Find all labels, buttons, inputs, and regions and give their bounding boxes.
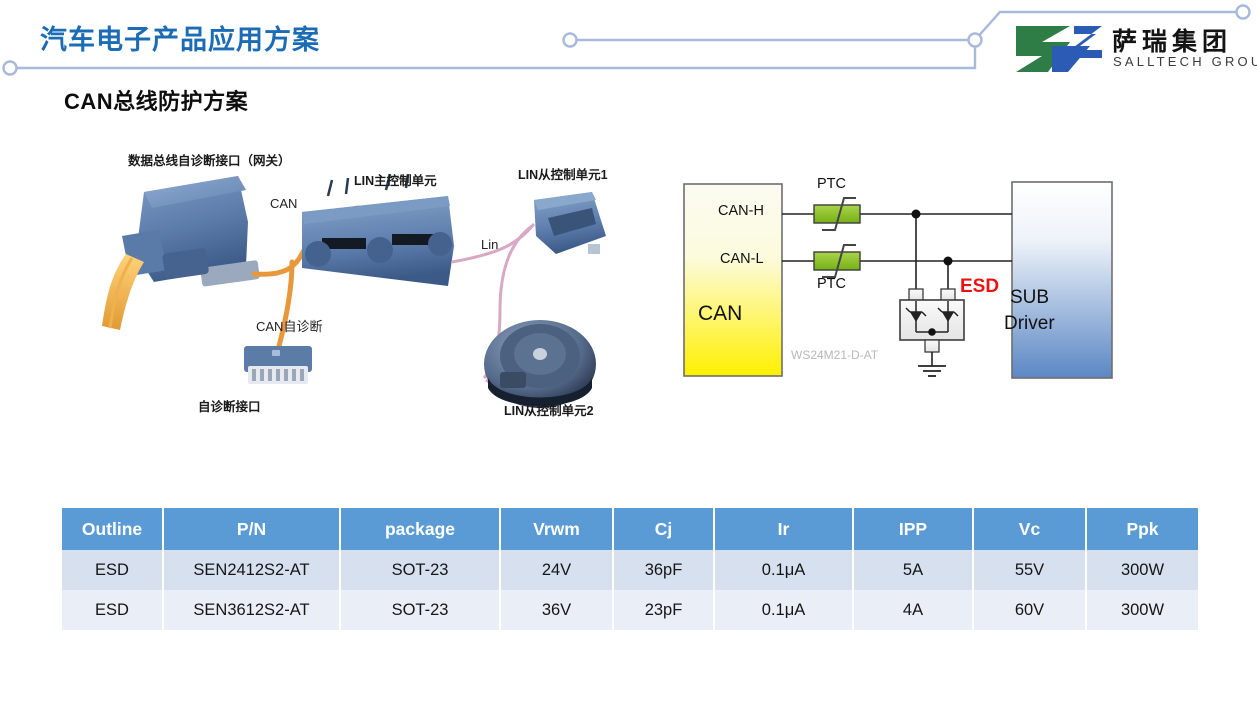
cell-ppk: 300W — [1086, 550, 1198, 590]
node-dot-esd-common — [928, 328, 936, 336]
node-dot-can-h — [912, 210, 921, 219]
cell-vc: 60V — [973, 590, 1086, 630]
illustration-label-obd: 自诊断接口 — [198, 396, 261, 415]
esd-device-package — [900, 289, 964, 376]
cell-cj: 23pF — [613, 590, 714, 630]
ptc-top-symbol — [814, 198, 860, 230]
table-header-row: Outline P/N package Vrwm Cj Ir IPP Vc Pp… — [62, 508, 1198, 550]
logo-blue-wedge — [1052, 46, 1090, 72]
table-header-outline: Outline — [62, 508, 163, 550]
brand-name-cn: 萨瑞集团 — [1112, 22, 1232, 58]
sub-driver-block — [1012, 182, 1112, 378]
brand-logo: 萨瑞集团 SALLTECH GROUP — [1012, 22, 1244, 78]
cell-ipp: 4A — [853, 590, 973, 630]
illustration-label-can: CAN — [270, 196, 297, 211]
cell-package: SOT-23 — [340, 550, 500, 590]
cell-pn: SEN2412S2-AT — [163, 550, 340, 590]
deco-node-mid — [564, 34, 577, 47]
deco-node-right — [1237, 6, 1250, 19]
cell-vc: 55V — [973, 550, 1086, 590]
deco-node-corner — [969, 34, 982, 47]
can-l-pin-label: CAN-L — [720, 251, 764, 267]
illustration-label-lin-slave2: LIN从控制单元2 — [504, 400, 594, 419]
section-title: CAN总线防护方案 — [64, 84, 248, 116]
table-header-vrwm: Vrwm — [500, 508, 613, 550]
automotive-bus-illustration: 数据总线自诊断接口（网关） CAN LIN主控制单元 LIN从控制单元1 Lin… — [96, 150, 656, 420]
table-header-ir: Ir — [714, 508, 853, 550]
table-header-ipp: IPP — [853, 508, 973, 550]
cell-vrwm: 24V — [500, 550, 613, 590]
salltech-logo-mark — [1012, 24, 1104, 74]
part-number-watermark: WS24M21-D-AT — [791, 348, 878, 362]
can-protection-circuit-diagram: CAN-H CAN-L CAN PTC PTC ESD SUB Driver W… — [672, 172, 1124, 402]
ground-symbol — [918, 366, 946, 376]
ptc-bottom-symbol — [814, 245, 860, 277]
obd-connector-graphic — [244, 346, 312, 384]
esd-label: ESD — [960, 276, 999, 298]
illustration-label-lin-master: LIN主控制单元 — [354, 170, 437, 189]
cell-outline: ESD — [62, 550, 163, 590]
illustration-artwork — [96, 150, 656, 420]
cell-pn: SEN3612S2-AT — [163, 590, 340, 630]
can-diag-wire — [278, 262, 292, 350]
table-row: ESD SEN3612S2-AT SOT-23 36V 23pF 0.1μA 4… — [62, 590, 1198, 630]
ptc-bottom-label: PTC — [817, 276, 846, 292]
table-header-ppk: Ppk — [1086, 508, 1198, 550]
esd-spec-table: Outline P/N package Vrwm Cj Ir IPP Vc Pp… — [62, 508, 1198, 630]
sub-driver-label-line2: Driver — [1004, 313, 1055, 335]
cell-package: SOT-23 — [340, 590, 500, 630]
illustration-label-lin: Lin — [481, 237, 498, 252]
sub-driver-label-line1: SUB — [1010, 287, 1049, 309]
cell-ppk: 300W — [1086, 590, 1198, 630]
page-title: 汽车电子产品应用方案 — [40, 18, 320, 57]
illustration-label-can-diag: CAN自诊断 — [256, 316, 322, 335]
table-header-package: package — [340, 508, 500, 550]
table-header-cj: Cj — [613, 508, 714, 550]
table-header-vc: Vc — [973, 508, 1086, 550]
cell-outline: ESD — [62, 590, 163, 630]
gateway-ecu-graphic — [102, 176, 260, 330]
lin-slave1-graphic — [534, 192, 606, 254]
illustration-label-lin-slave1: LIN从控制单元1 — [518, 164, 608, 183]
brand-name-en: SALLTECH GROUP — [1113, 54, 1257, 69]
can-block-label: CAN — [698, 302, 742, 326]
cell-ipp: 5A — [853, 550, 973, 590]
cell-vrwm: 36V — [500, 590, 613, 630]
deco-node-left — [4, 62, 17, 75]
ptc-top-label: PTC — [817, 176, 846, 192]
table-header-pn: P/N — [163, 508, 340, 550]
table-row: ESD SEN2412S2-AT SOT-23 24V 36pF 0.1μA 5… — [62, 550, 1198, 590]
cell-ir: 0.1μA — [714, 550, 853, 590]
lin-slave2-motor-graphic — [484, 320, 596, 408]
lin-master-module-graphic — [302, 174, 454, 286]
cell-ir: 0.1μA — [714, 590, 853, 630]
can-h-pin-label: CAN-H — [718, 203, 764, 219]
illustration-label-gateway: 数据总线自诊断接口（网关） — [128, 150, 291, 169]
cell-cj: 36pF — [613, 550, 714, 590]
node-dot-can-l — [944, 257, 953, 266]
